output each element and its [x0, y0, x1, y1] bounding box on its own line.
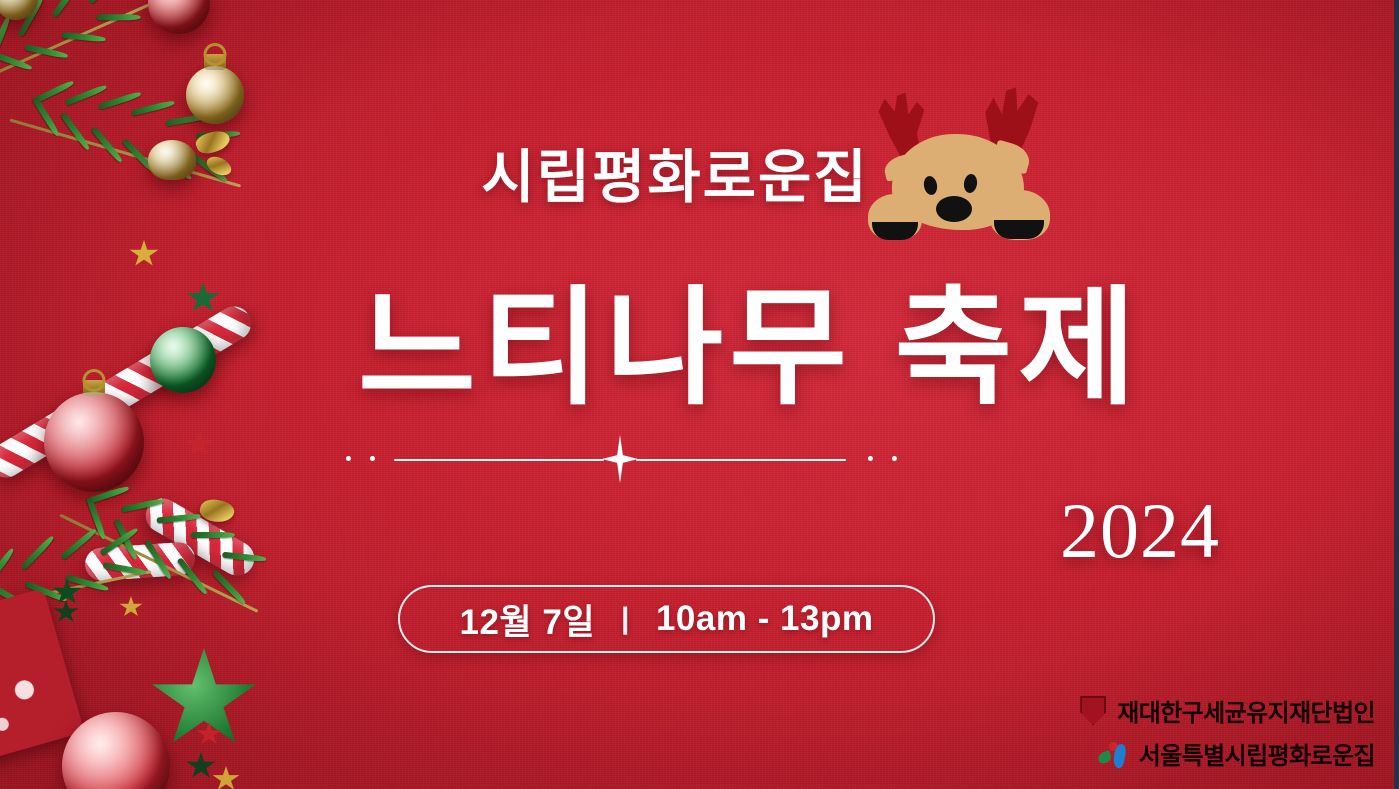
seoul-city-mark-icon: [1098, 739, 1128, 769]
event-date: 12월 7일: [460, 594, 596, 645]
divider-dot: [370, 456, 375, 461]
logo-row-seoul: 서울특별시립평화로운집: [1098, 736, 1375, 771]
event-datetime-pill: 12월 7일 | 10am - 13pm: [398, 585, 935, 653]
poster-title: 느티나무 축제: [300, 282, 1200, 416]
organization-logos: 재대한구세균유지재단법인 서울특별시립평화로운집: [1080, 693, 1375, 771]
seoul-mark-green-shape: [1096, 750, 1112, 764]
poster-year: 2024: [1030, 486, 1250, 576]
salvation-army-shield-icon: [1080, 696, 1106, 726]
divider-dot: [892, 456, 897, 461]
logo-row-salvation-army: 재대한구세균유지재단법인: [1080, 693, 1375, 728]
event-time: 10am - 13pm: [656, 599, 874, 639]
divider-dot: [346, 456, 351, 461]
divider-line-left: [394, 459, 604, 461]
divider-sparkle-icon: [602, 435, 638, 483]
poster-subtitle: 시립평화로운집: [440, 130, 910, 214]
divider-dot: [868, 456, 873, 461]
organization-name-1: 재대한구세균유지재단법인: [1117, 693, 1375, 728]
poster-content: 시립평화로운집 느티나무 축제 2024 12월 7일 | 10am - 13p…: [0, 0, 1399, 789]
christmas-festival-poster: 시립평화로운집 느티나무 축제 2024 12월 7일 | 10am - 13p…: [0, 0, 1399, 789]
divider-line-right: [636, 459, 846, 461]
organization-name-2: 서울특별시립평화로운집: [1139, 736, 1375, 771]
right-edge-border: [1394, 0, 1399, 789]
ornamental-divider: [330, 440, 910, 478]
datetime-separator: |: [621, 602, 630, 636]
